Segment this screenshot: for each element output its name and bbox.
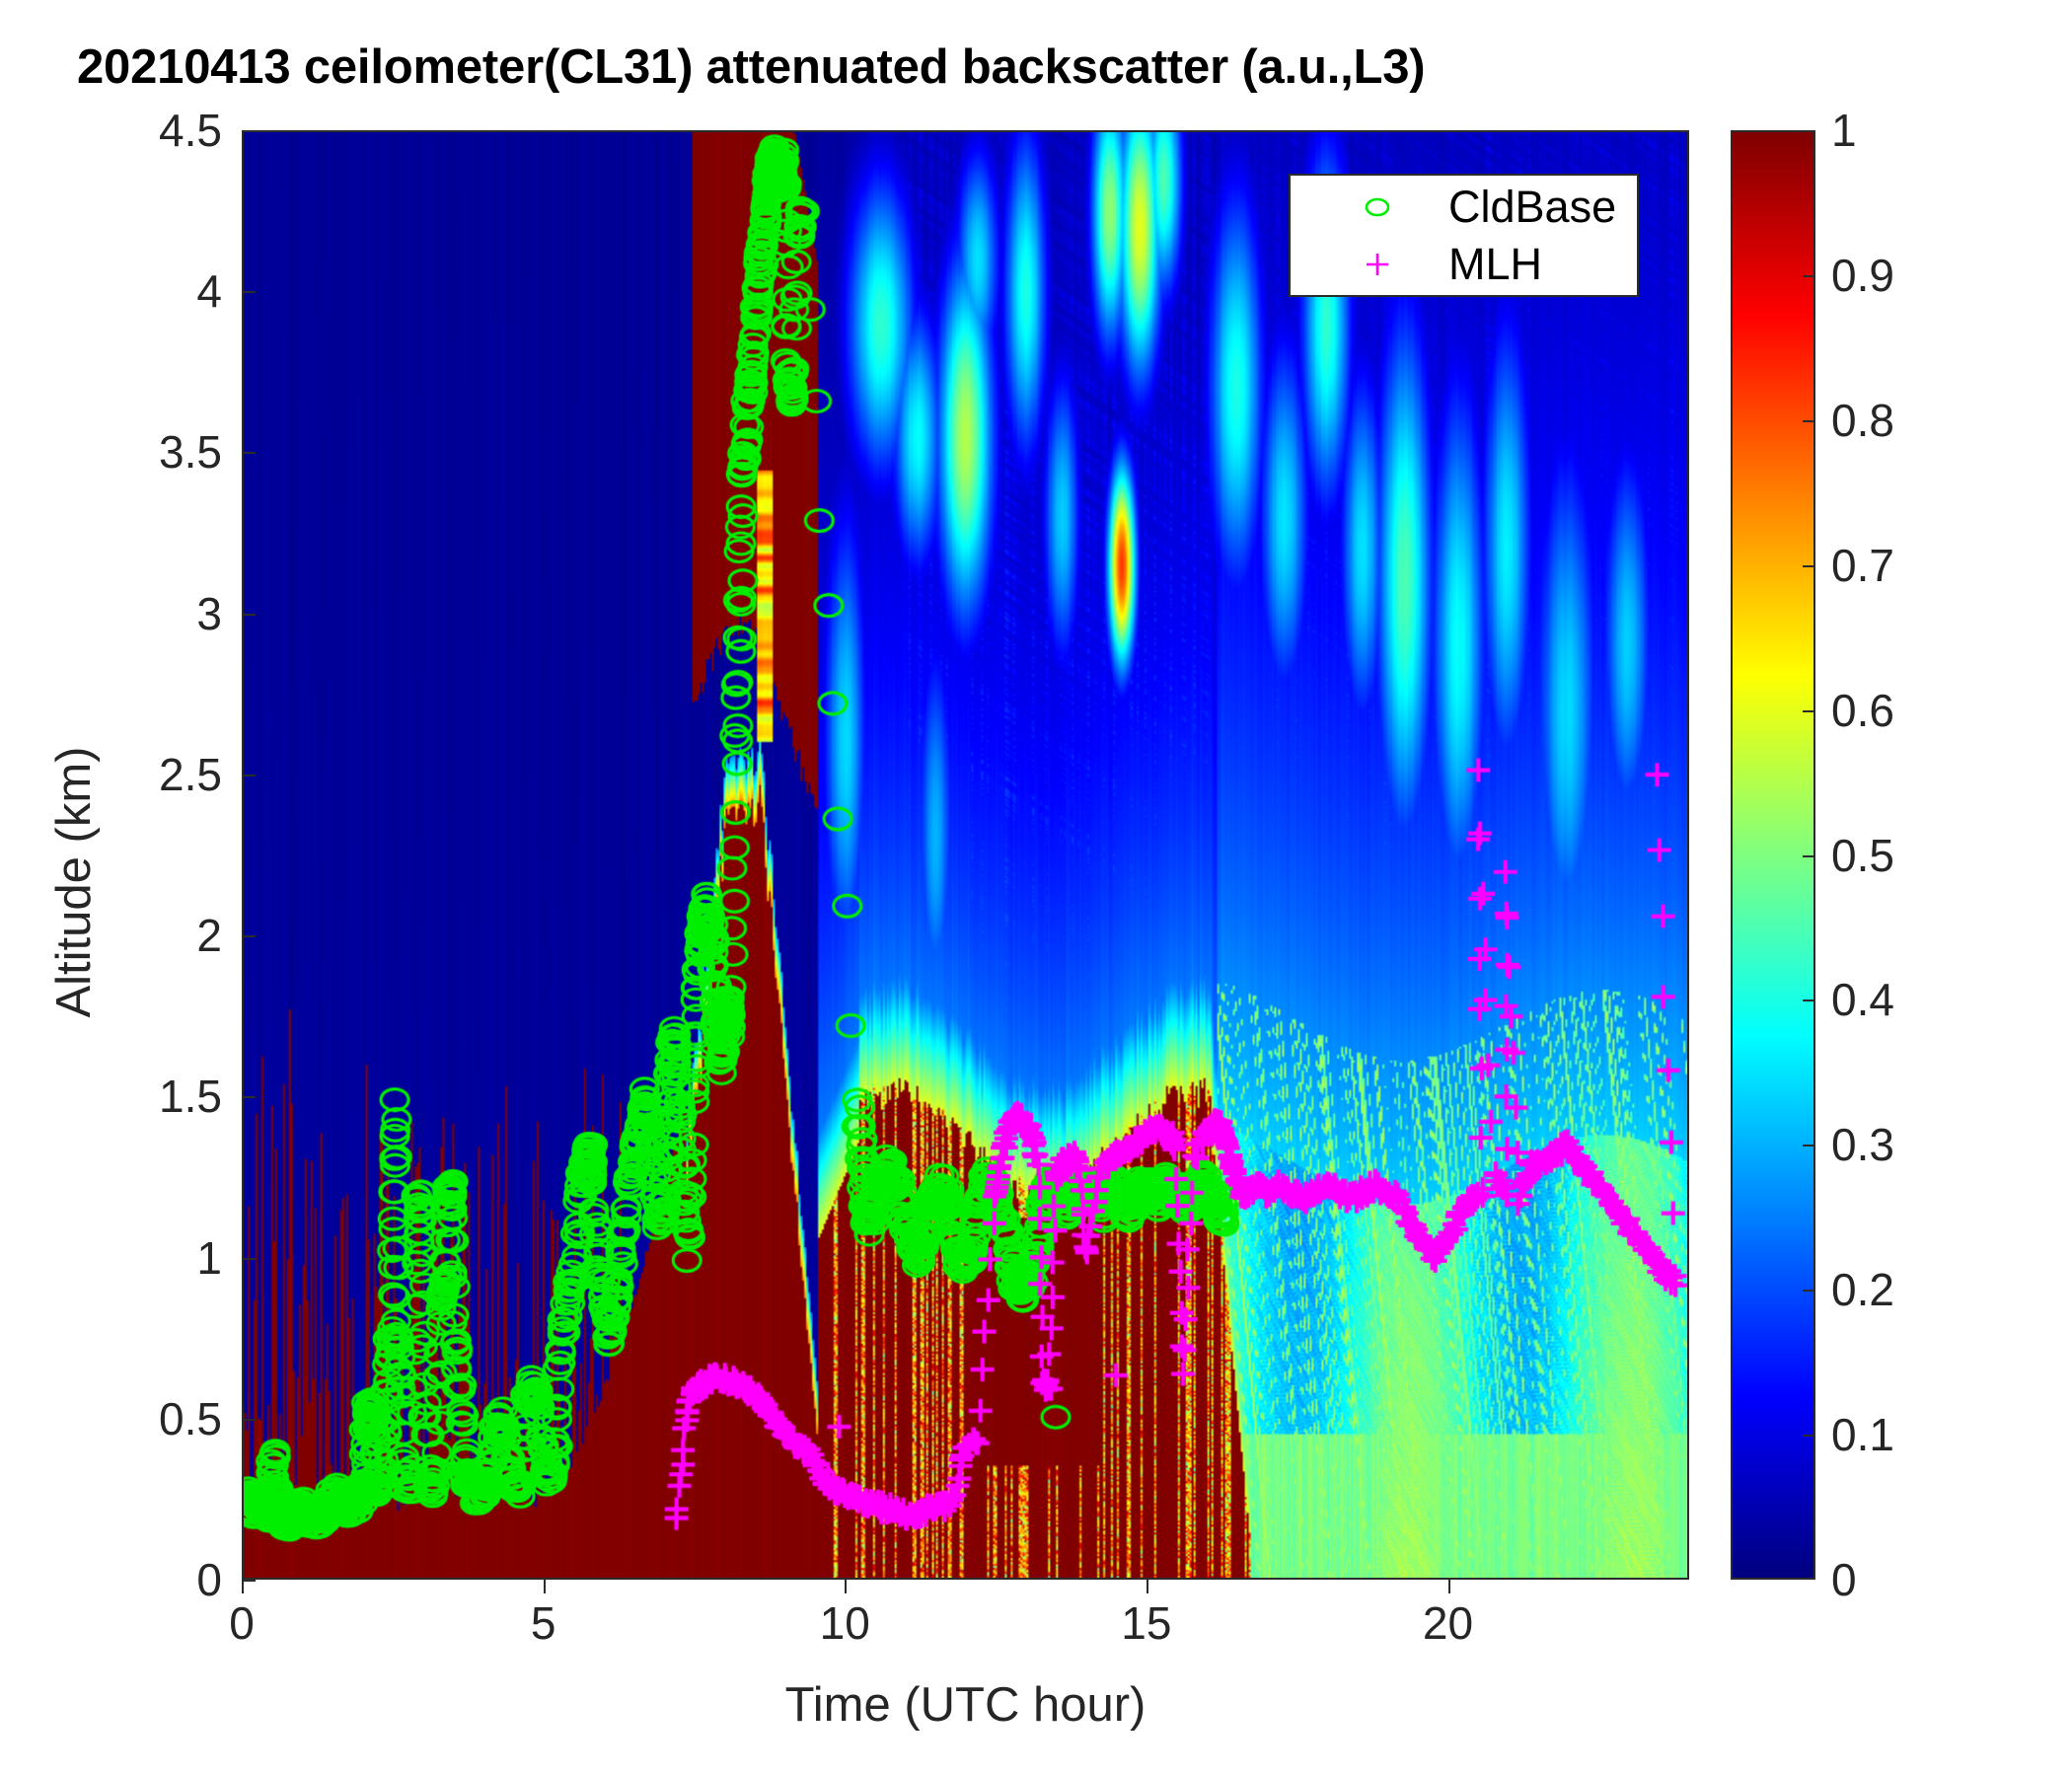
y-tick-label: 0	[196, 1553, 222, 1606]
y-tick-mark	[242, 130, 256, 132]
colorbar-tick-label: 0.5	[1831, 829, 1894, 882]
y-tick-label: 4.5	[159, 104, 222, 157]
legend-label-cldbase: CldBase	[1448, 182, 1616, 233]
y-tick-mark	[242, 1258, 256, 1260]
y-tick-mark	[242, 775, 256, 777]
x-tick-label: 5	[531, 1596, 556, 1650]
colorbar-tick-label: 0.1	[1831, 1408, 1894, 1461]
legend-item-mlh: MLH	[1291, 237, 1637, 292]
plot-area	[242, 130, 1689, 1580]
y-tick-label: 2	[196, 909, 222, 962]
y-tick-label: 0.5	[159, 1392, 222, 1445]
x-tick-label: 10	[820, 1596, 870, 1650]
plus-marker-icon	[1361, 248, 1394, 281]
x-tick-mark	[845, 1580, 847, 1593]
colorbar-tick-label: 0.3	[1831, 1118, 1894, 1171]
colorbar-tick-label: 0.6	[1831, 684, 1894, 737]
colorbar-tick-label: 0	[1831, 1553, 1857, 1606]
x-tick-mark	[242, 1580, 244, 1593]
y-tick-label: 2.5	[159, 748, 222, 801]
legend-label-mlh: MLH	[1448, 239, 1542, 290]
y-tick-label: 1	[196, 1231, 222, 1285]
chart-title: 20210413 ceilometer(CL31) attenuated bac…	[77, 39, 1952, 95]
colorbar	[1731, 130, 1815, 1580]
y-tick-mark	[242, 1580, 256, 1582]
x-tick-mark	[1147, 1580, 1148, 1593]
y-tick-label: 4	[196, 264, 222, 318]
x-tick-label: 15	[1121, 1596, 1171, 1650]
y-axis-label: Altitude (km)	[46, 566, 102, 1198]
colorbar-tick-label: 1	[1831, 104, 1857, 157]
colorbar-tick-mark	[1803, 1290, 1815, 1292]
x-axis-label: Time (UTC hour)	[242, 1677, 1689, 1733]
circle-marker-icon	[1361, 190, 1394, 224]
y-tick-label: 1.5	[159, 1070, 222, 1123]
y-tick-mark	[242, 452, 256, 454]
y-tick-label: 3.5	[159, 425, 222, 479]
legend: CldBase MLH	[1289, 174, 1639, 297]
x-tick-mark	[1448, 1580, 1450, 1593]
colorbar-tick-mark	[1803, 1435, 1815, 1437]
x-tick-mark	[544, 1580, 546, 1593]
colorbar-tick-mark	[1803, 1145, 1815, 1147]
colorbar-tick-label: 0.2	[1831, 1263, 1894, 1316]
colorbar-tick-mark	[1803, 855, 1815, 857]
marker-overlay	[244, 132, 1687, 1578]
colorbar-tick-label: 0.8	[1831, 394, 1894, 447]
colorbar-tick-label: 0.7	[1831, 539, 1894, 592]
y-tick-mark	[242, 935, 256, 937]
colorbar-tick-label: 0.9	[1831, 249, 1894, 302]
colorbar-tick-mark	[1803, 420, 1815, 422]
colorbar-tick-mark	[1803, 999, 1815, 1001]
colorbar-tick-label: 0.4	[1831, 973, 1894, 1026]
y-tick-mark	[242, 614, 256, 616]
colorbar-tick-mark	[1803, 565, 1815, 567]
y-tick-mark	[242, 1096, 256, 1098]
x-tick-label: 0	[229, 1596, 255, 1650]
legend-item-cldbase: CldBase	[1291, 180, 1637, 235]
x-tick-label: 20	[1423, 1596, 1473, 1650]
y-tick-label: 3	[196, 587, 222, 640]
colorbar-tick-mark	[1803, 275, 1815, 277]
y-tick-mark	[242, 291, 256, 293]
colorbar-tick-mark	[1803, 710, 1815, 712]
y-tick-mark	[242, 1419, 256, 1421]
